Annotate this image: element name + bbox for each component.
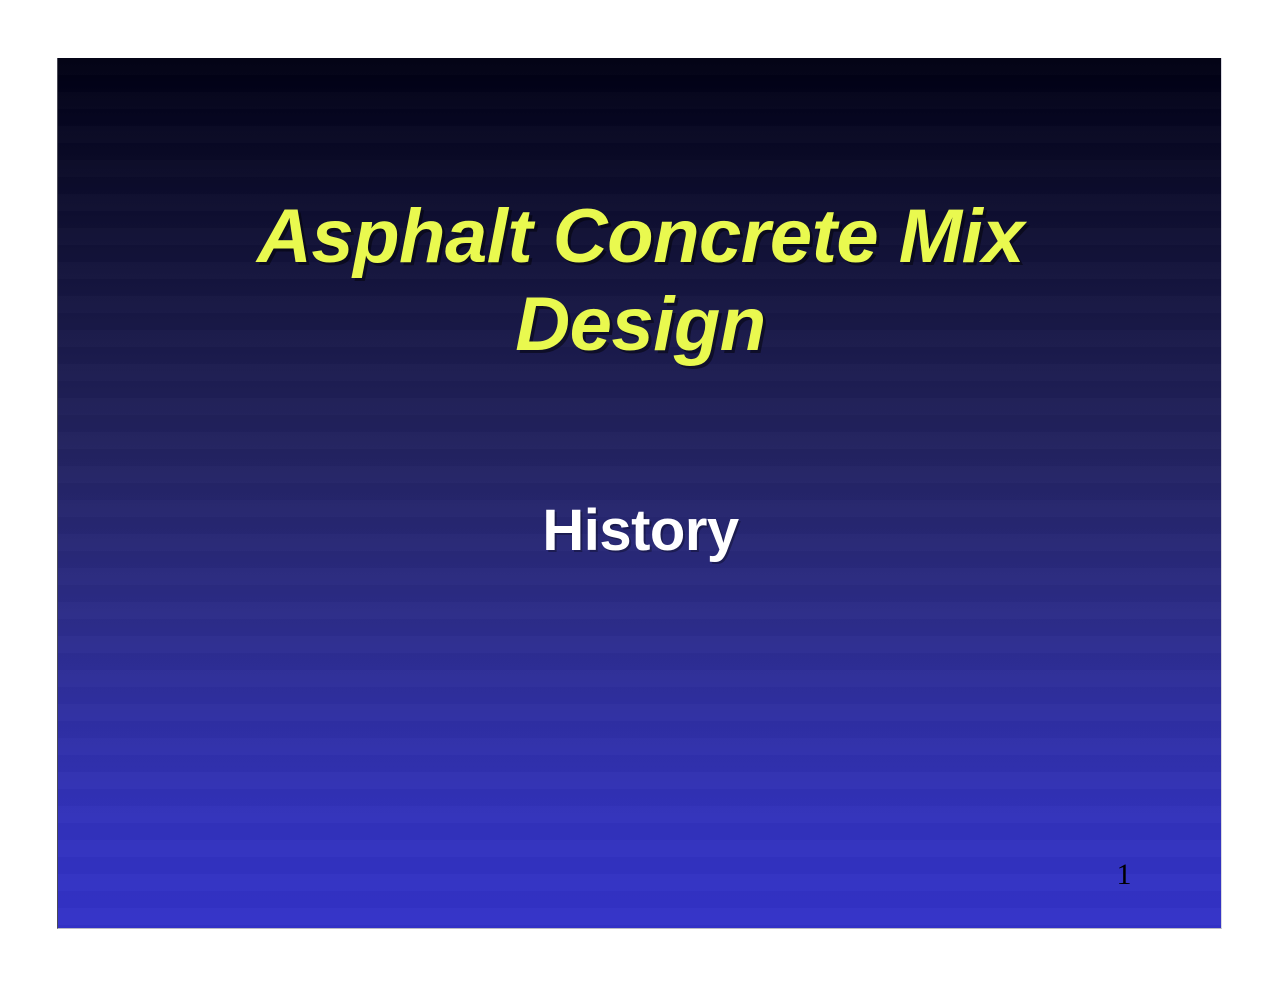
slide-title-line-1: Asphalt Concrete Mix	[58, 193, 1222, 281]
page-canvas: Asphalt Concrete Mix Design History 1	[0, 0, 1280, 989]
slide-subtitle: History	[58, 496, 1222, 566]
page-number: 1	[1104, 858, 1144, 892]
slide[interactable]: Asphalt Concrete Mix Design History 1	[57, 58, 1222, 929]
slide-title: Asphalt Concrete Mix Design	[58, 193, 1222, 369]
slide-title-line-2: Design	[58, 281, 1222, 369]
slide-subtitle-text: History	[542, 496, 738, 566]
slide-content: Asphalt Concrete Mix Design History 1	[58, 58, 1221, 928]
